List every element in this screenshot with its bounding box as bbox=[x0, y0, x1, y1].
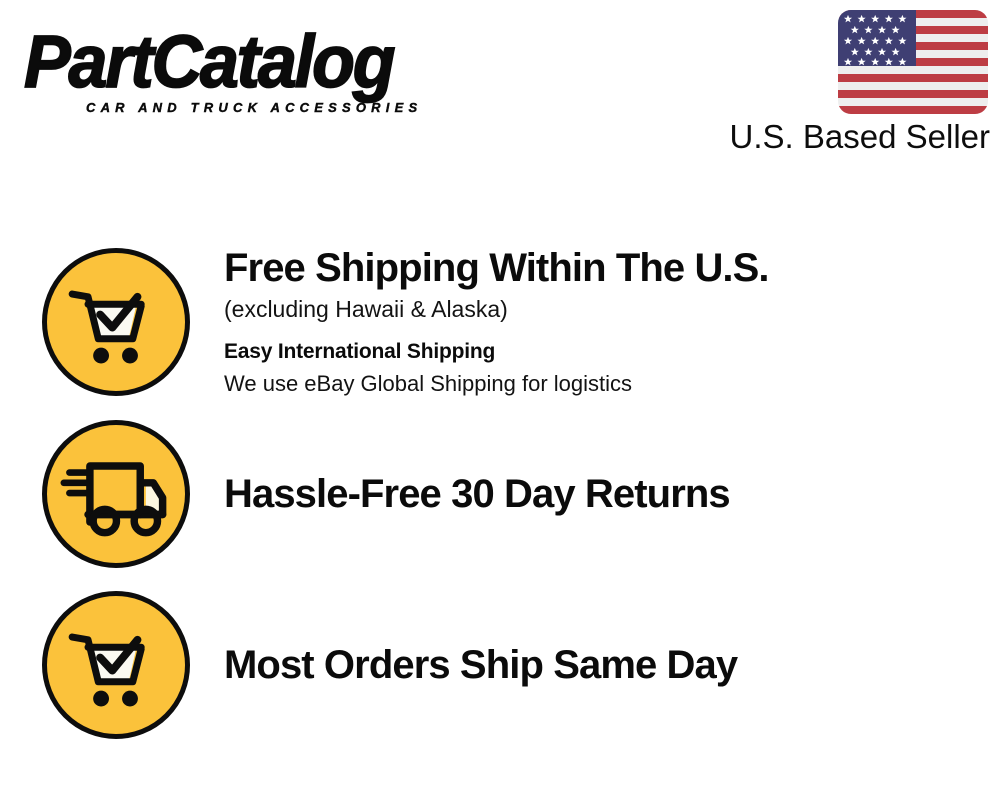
promo-banner: PartCatalog CAR AND TRUCK ACCESSORIES bbox=[0, 0, 1000, 800]
feature-row: Most Orders Ship Same Day bbox=[0, 591, 1000, 739]
feature-secondary-subtitle: We use eBay Global Shipping for logistic… bbox=[224, 368, 980, 400]
feature-title: Hassle-Free 30 Day Returns bbox=[224, 470, 980, 518]
shopping-cart-check-icon bbox=[42, 248, 190, 396]
feature-title: Most Orders Ship Same Day bbox=[224, 641, 980, 689]
delivery-truck-icon bbox=[42, 420, 190, 568]
partcatalog-logo[interactable]: PartCatalog CAR AND TRUCK ACCESSORIES bbox=[24, 22, 494, 118]
feature-text-block: Most Orders Ship Same Day bbox=[224, 641, 1000, 689]
shopping-cart-check-icon bbox=[42, 591, 190, 739]
feature-subtitle: (excluding Hawaii & Alaska) bbox=[224, 292, 980, 326]
feature-row: Free Shipping Within The U.S. (excluding… bbox=[0, 236, 1000, 408]
feature-secondary-title: Easy International Shipping bbox=[224, 336, 980, 368]
us-based-seller-label: U.S. Based Seller bbox=[730, 118, 990, 156]
feature-text-block: Free Shipping Within The U.S. (excluding… bbox=[224, 244, 1000, 400]
feature-title: Free Shipping Within The U.S. bbox=[224, 244, 980, 292]
brand-wordmark: PartCatalog bbox=[24, 22, 522, 100]
feature-text-block: Hassle-Free 30 Day Returns bbox=[224, 470, 1000, 518]
feature-row: Hassle-Free 30 Day Returns bbox=[0, 420, 1000, 568]
us-flag-icon bbox=[838, 10, 988, 114]
brand-tagline: CAR AND TRUCK ACCESSORIES bbox=[86, 100, 422, 115]
